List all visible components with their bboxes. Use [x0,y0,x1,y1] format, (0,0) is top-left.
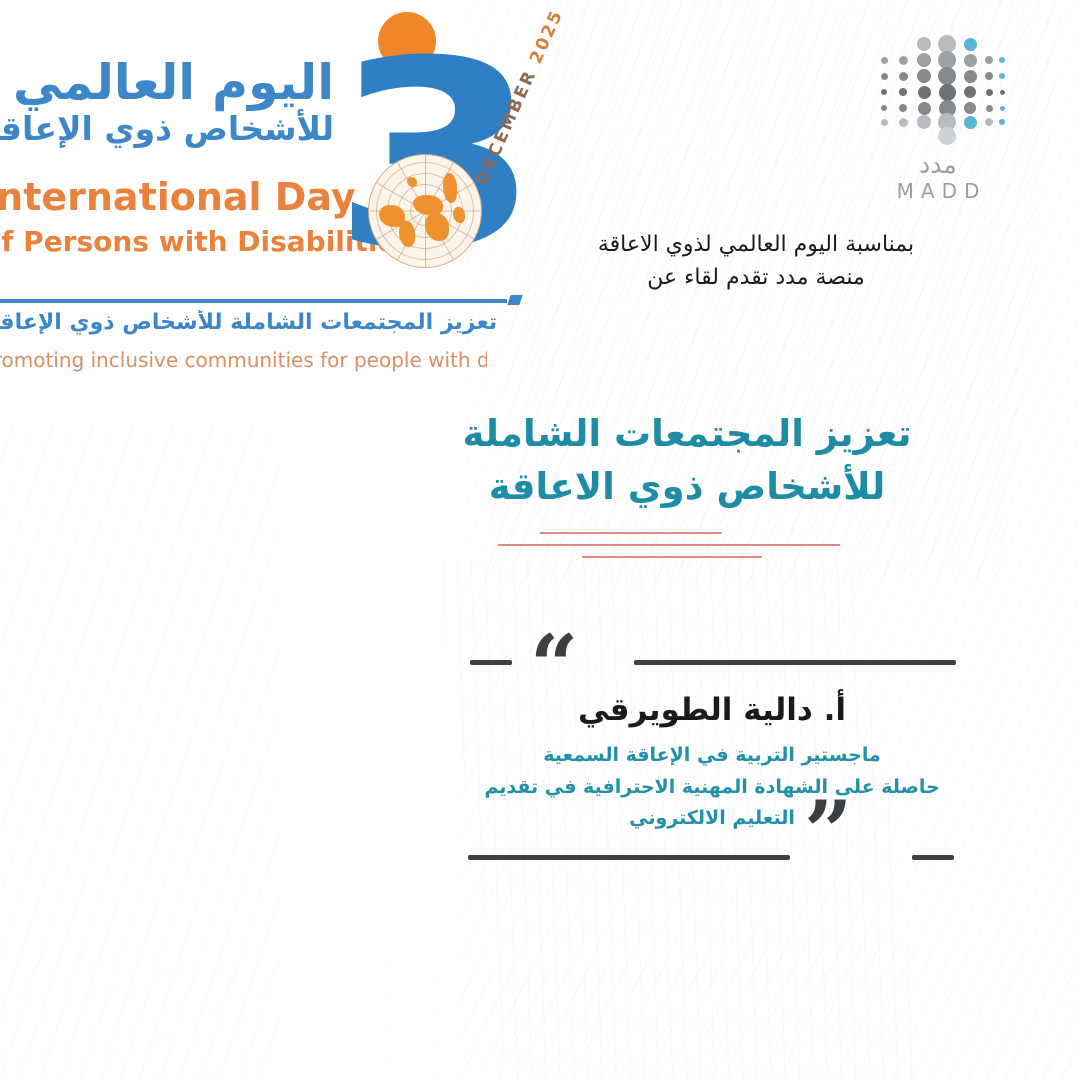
matrix-dot [1000,90,1005,95]
matrix-dot [917,69,931,83]
matrix-dot [964,54,977,67]
texture-diagonal-left [0,420,280,1080]
matrix-dot [999,57,1005,63]
matrix-dot [985,118,993,126]
quote-frame-bottom: ” [452,834,972,880]
intro-line-2: منصة مدد تقدم لقاء عن [560,261,952,294]
decorative-line-3 [582,556,762,558]
madd-logo: مدد MADD [868,38,1008,203]
quote-frame-top: “ [452,640,972,686]
page-title: تعزيز المجتمعات الشاملة للأشخاص ذوي الاع… [452,408,922,513]
quote-dash-bottom [912,855,954,860]
matrix-dot [918,86,931,99]
idpd-arabic-title-line2: للأشخاص ذوي الإعاقة [0,112,334,145]
idpd-english-title-line1: International Day [0,178,326,216]
decorative-line-2 [498,544,840,546]
matrix-dot [881,119,888,126]
decorative-line-1 [540,532,722,534]
matrix-dot [986,105,993,112]
matrix-dot [917,53,931,67]
quote-close-icon: ” [804,790,852,874]
speaker-credential-line-1: ماجستير التربية في الإعاقة السمعية [482,740,942,772]
quote-bar-top [634,660,956,665]
madd-wordmark-latin: MADD [868,179,1008,203]
matrix-dot [985,56,993,64]
speaker-name: أ. دالية الطويرقي [452,692,972,728]
matrix-dot [985,72,993,80]
idpd-english-title-line2: of Persons with Disabilities [0,228,326,256]
headline-line-1: تعزيز المجتمعات الشاملة [452,408,922,461]
decorative-lines [452,524,922,568]
matrix-dot [999,73,1005,79]
matrix-dot [917,37,931,51]
matrix-dot [881,105,887,111]
texture-bottom-strip [0,950,1080,1080]
speaker-credential-line-2: حاصلة على الشهادة المهنية الاحترافية في … [482,772,942,804]
matrix-dot [964,70,977,83]
quote-dash-top [470,660,512,665]
matrix-dot [1000,106,1005,111]
madd-wordmark-arabic: مدد [868,152,1008,178]
speaker-credential-line-3: التعليم الالكتروني [482,803,942,835]
matrix-dot [899,104,907,112]
idpd-tagline-english: Promoting inclusive communities for peop… [0,348,487,372]
idpd-tagline-arabic: تعزيز المجتمعات الشاملة للأشخاص ذوي الإع… [0,310,502,335]
un-globe-icon [368,154,482,268]
matrix-dot [917,115,931,129]
matrix-dot [939,84,956,101]
matrix-dot [918,102,931,115]
speaker-credentials: ماجستير التربية في الإعاقة السمعية حاصلة… [482,740,942,835]
quote-bar-bottom [468,855,790,860]
matrix-dot [899,56,908,65]
intro-text: بمناسبة اليوم العالمي لذوي الاعاقة منصة … [560,228,952,295]
matrix-dot [881,73,888,80]
matrix-dot [964,86,976,98]
idpd-three-mark: 3 DECEMBER [360,4,532,304]
matrix-dot [964,102,976,114]
matrix-dot [899,118,908,127]
matrix-dot [964,38,977,51]
matrix-dot [999,119,1005,125]
idpd-logo: اليوم العالمي للأشخاص ذوي الإعاقة Intern… [0,0,538,392]
matrix-dot [938,127,956,145]
idpd-arabic-title-line1: اليوم العالمي [0,58,334,107]
matrix-dot [986,89,993,96]
speaker-quote-block: “ أ. دالية الطويرقي ماجستير التربية في ا… [452,640,972,880]
matrix-dot [881,89,887,95]
headline-line-2: للأشخاص ذوي الاعاقة [452,461,922,514]
poster-canvas: اليوم العالمي للأشخاص ذوي الإعاقة Intern… [0,0,1080,1080]
matrix-dot [938,67,956,85]
dot-matrix-icon [874,38,1002,138]
intro-line-1: بمناسبة اليوم العالمي لذوي الاعاقة [560,228,952,261]
matrix-dot [899,88,907,96]
matrix-dot [899,72,908,81]
matrix-dot [881,57,888,64]
matrix-dot [964,116,977,129]
